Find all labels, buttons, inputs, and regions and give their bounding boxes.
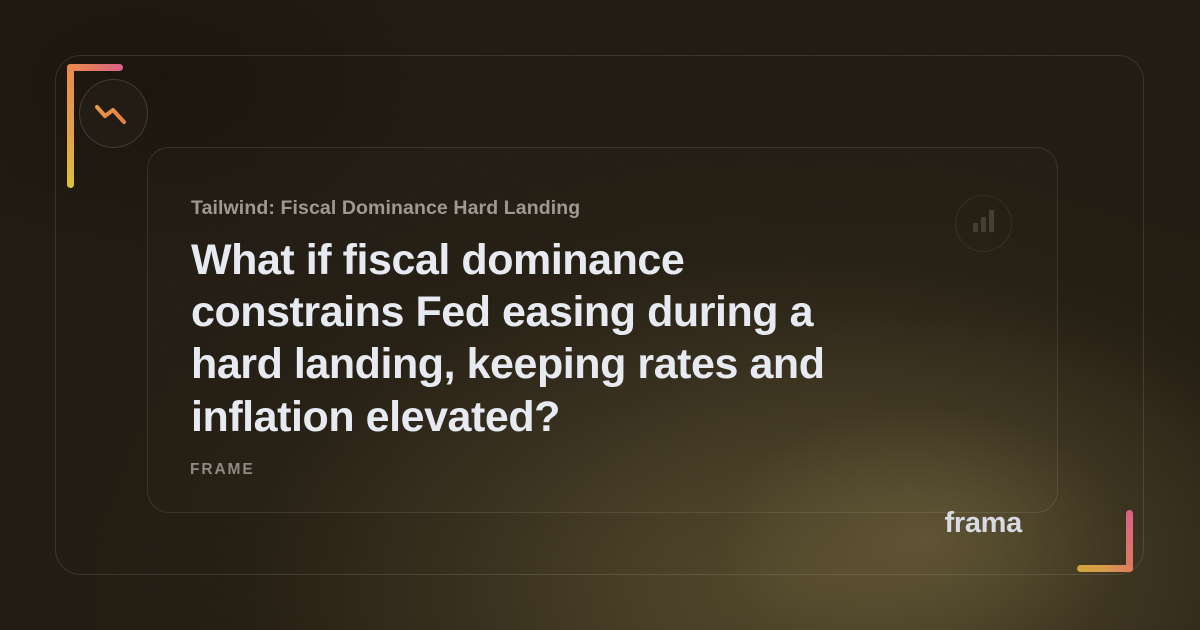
brand-wordmark: frama — [945, 507, 1023, 540]
card-kicker-label: FRAME — [190, 461, 255, 479]
declining-line-chart-icon — [94, 101, 134, 127]
card-headline: What if fiscal dominance constrains Fed … — [191, 234, 851, 443]
frame-inner-card: Tailwind: Fiscal Dominance Hard Landing … — [147, 147, 1058, 513]
card-content: Tailwind: Fiscal Dominance Hard Landing … — [191, 197, 1014, 443]
frame-card-canvas: Tailwind: Fiscal Dominance Hard Landing … — [0, 0, 1200, 630]
card-eyebrow: Tailwind: Fiscal Dominance Hard Landing — [191, 197, 1014, 220]
brand-mark-badge — [79, 79, 148, 148]
